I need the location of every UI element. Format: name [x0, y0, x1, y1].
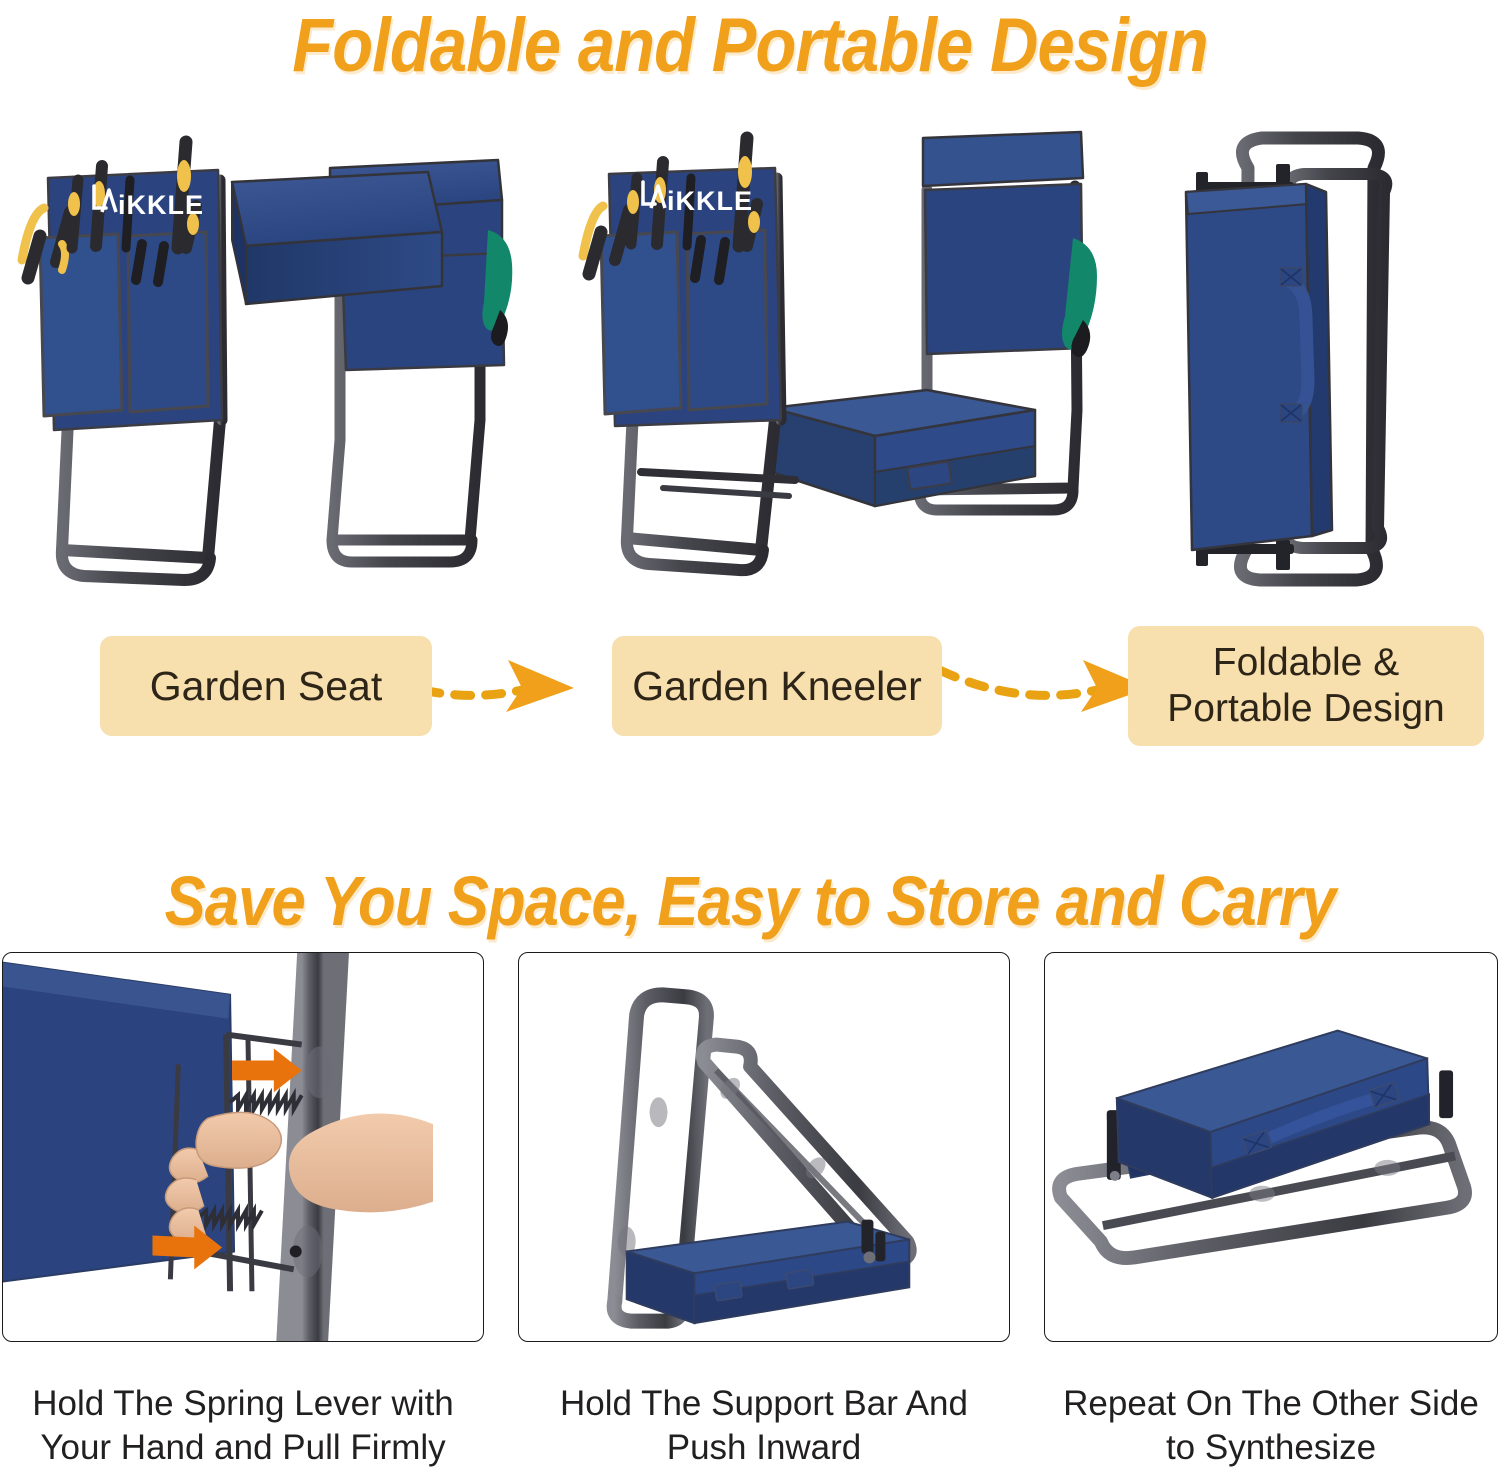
step-image-spring-lever	[2, 952, 484, 1342]
product-stages-row: iKKLE	[0, 120, 1500, 620]
stage-label-line-1: Foldable &	[1167, 640, 1445, 686]
caption-line-1: Hold The Support Bar And	[518, 1382, 1010, 1426]
stage-label-text: Garden Seat	[150, 662, 383, 710]
transition-arrow-icon-2	[905, 648, 1155, 720]
caption-line-2: Your Hand and Pull Firmly	[0, 1426, 486, 1470]
product-image-garden-kneeler: iKKLE	[575, 120, 1105, 620]
svg-text:iKKLE: iKKLE	[118, 190, 204, 220]
product-image-folded	[1140, 120, 1490, 620]
product-image-garden-seat: iKKLE	[10, 120, 540, 620]
stage-label-garden-seat: Garden Seat	[100, 636, 432, 736]
caption-line-1: Repeat On The Other Side	[1044, 1382, 1498, 1426]
stage-label-line-2: Portable Design	[1167, 686, 1445, 732]
stage-label-text: Garden Kneeler	[632, 662, 921, 710]
step-caption-spring-lever: Hold The Spring Lever with Your Hand and…	[0, 1382, 486, 1470]
svg-text:iKKLE: iKKLE	[667, 186, 753, 216]
caption-line-1: Hold The Spring Lever with	[0, 1382, 486, 1426]
stage-label-foldable-portable: Foldable & Portable Design	[1128, 626, 1484, 746]
stage-label-garden-kneeler: Garden Kneeler	[612, 636, 942, 736]
step-caption-support-bar: Hold The Support Bar And Push Inward	[518, 1382, 1010, 1470]
caption-line-2: to Synthesize	[1044, 1426, 1498, 1470]
step-image-support-bar	[518, 952, 1010, 1342]
step-image-other-side	[1044, 952, 1498, 1342]
caption-line-2: Push Inward	[518, 1426, 1010, 1470]
infographic-page: Foldable and Portable Design	[0, 0, 1500, 1472]
step-caption-other-side: Repeat On The Other Side to Synthesize	[1044, 1382, 1498, 1470]
page-title-bottom: Save You Space, Easy to Store and Carry	[90, 855, 1410, 947]
page-title-top: Foldable and Portable Design	[90, 0, 1410, 94]
